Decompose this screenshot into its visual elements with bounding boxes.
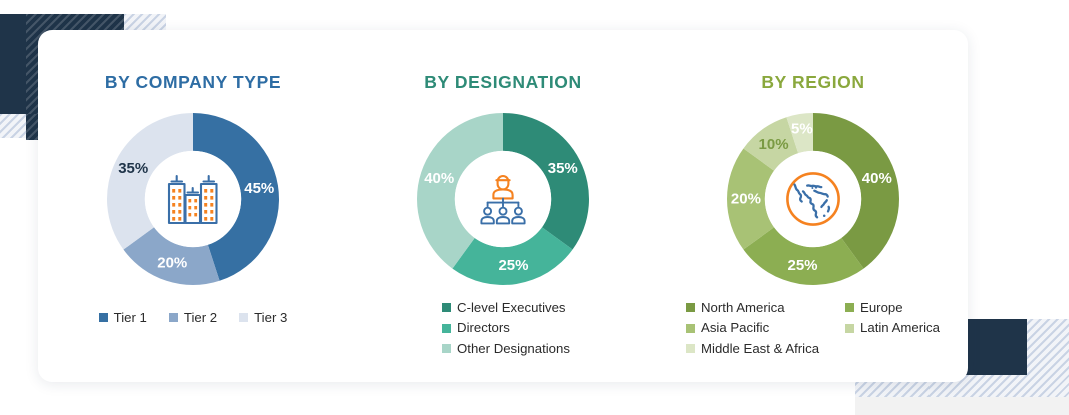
legend-item-label: Asia Pacific (701, 319, 769, 336)
legend-swatch-icon (686, 303, 695, 312)
slice-value-label: 35% (118, 160, 148, 177)
legend-item-label: C-level Executives (457, 299, 565, 316)
legend-swatch-icon (845, 303, 854, 312)
legend-item[interactable]: North America (686, 299, 819, 316)
buildings-icon (156, 162, 230, 236)
slice-value-label: 40% (862, 170, 892, 187)
legend-item-label: Europe (860, 299, 903, 316)
legend-item-label: Other Designations (457, 340, 570, 357)
legend-item[interactable]: Asia Pacific (686, 319, 819, 336)
decor-top-left-navy-block (0, 14, 26, 114)
slice-value-label: 45% (244, 180, 274, 197)
panel-by-designation: BY DESIGNATION 35%25%40% (348, 30, 658, 382)
slice-value-label: 40% (424, 170, 454, 187)
legend-item[interactable]: Tier 3 (239, 309, 287, 326)
decor-bottom-right-gray-band (855, 397, 1069, 415)
slice-value-label: 25% (498, 257, 528, 274)
legend-item[interactable]: Europe (845, 299, 940, 316)
donut-chart-region: 40%25%20%10%5% (725, 111, 901, 287)
legend-swatch-icon (686, 324, 695, 333)
legend-swatch-icon (442, 344, 451, 353)
legend-swatch-icon (169, 313, 178, 322)
legend-item-label: Middle East & Africa (701, 340, 819, 357)
legend-swatch-icon (239, 313, 248, 322)
legend-item[interactable]: Middle East & Africa (686, 340, 819, 357)
legend-item-label: Tier 2 (184, 309, 217, 326)
slice-value-label: 20% (731, 191, 761, 208)
slice-value-label: 20% (157, 254, 187, 271)
decor-top-left-light-stripes-2 (0, 114, 26, 138)
infographic-card: BY COMPANY TYPE 45%20%35% (38, 30, 968, 382)
legend-item[interactable]: Other Designations (442, 340, 570, 357)
legend-item-label: Directors (457, 319, 510, 336)
legend-item-label: Tier 3 (254, 309, 287, 326)
legend-swatch-icon (442, 324, 451, 333)
legend-company-type: Tier 1Tier 2Tier 3 (99, 309, 288, 326)
panel-title-company-type: BY COMPANY TYPE (105, 72, 281, 93)
panel-title-region: BY REGION (761, 72, 864, 93)
panel-title-designation: BY DESIGNATION (424, 72, 582, 93)
slice-value-label: 10% (759, 136, 789, 153)
legend-item[interactable]: Tier 2 (169, 309, 217, 326)
legend-swatch-icon (686, 344, 695, 353)
legend-item-label: Latin America (860, 319, 940, 336)
legend-swatch-icon (442, 303, 451, 312)
slice-value-label: 35% (548, 160, 578, 177)
slice-value-label: 25% (787, 257, 817, 274)
panel-container: BY COMPANY TYPE 45%20%35% (38, 30, 968, 382)
globe-icon (776, 162, 850, 236)
org-hierarchy-icon (466, 162, 540, 236)
legend-item-label: Tier 1 (114, 309, 147, 326)
legend-item[interactable]: Tier 1 (99, 309, 147, 326)
legend-swatch-icon (99, 313, 108, 322)
decor-bottom-right-navy-block-2 (1009, 319, 1027, 375)
donut-chart-company-type: 45%20%35% (105, 111, 281, 287)
legend-designation: C-level ExecutivesDirectorsOther Designa… (442, 299, 570, 357)
panel-by-region: BY REGION 40%25%20%10%5% (658, 30, 968, 382)
legend-item[interactable]: Latin America (845, 319, 940, 336)
legend-swatch-icon (845, 324, 854, 333)
slice-value-label: 5% (791, 120, 813, 137)
legend-region: North AmericaEuropeAsia PacificLatin Ame… (686, 299, 940, 357)
donut-chart-designation: 35%25%40% (415, 111, 591, 287)
legend-item[interactable]: C-level Executives (442, 299, 570, 316)
panel-by-company-type: BY COMPANY TYPE 45%20%35% (38, 30, 348, 382)
legend-item[interactable]: Directors (442, 319, 570, 336)
legend-item-label: North America (701, 299, 785, 316)
